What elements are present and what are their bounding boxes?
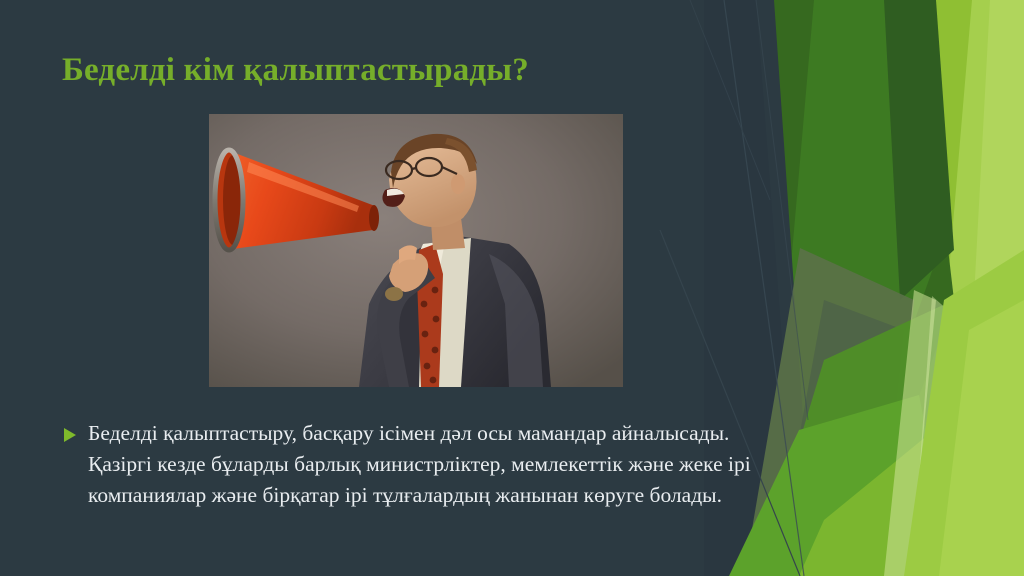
man-with-megaphone-photo	[209, 114, 623, 387]
deco-shape-right-low	[904, 250, 1024, 576]
bullet-paragraph-text: Беделді қалыптастыру, басқару ісімен дәл…	[88, 418, 752, 512]
deco-shape-olive	[744, 248, 914, 576]
deco-shape-right-low-2	[939, 300, 1024, 576]
triangle-right-icon	[62, 418, 88, 443]
deco-shape-bright-edge	[959, 0, 1024, 576]
deco-shape-darkgreen-2	[764, 0, 936, 576]
deco-shape-lowgreen-3	[799, 430, 954, 576]
hairline-upper-right	[690, 0, 770, 200]
photo-megaphone-tip	[369, 205, 379, 231]
presentation-slide: Беделді кім қалыптастырады?	[0, 0, 1024, 576]
deco-shape-pale-sliver	[884, 290, 936, 576]
deco-shape-bright-right	[899, 0, 1024, 576]
deco-shape-pale-sliver-2	[916, 296, 950, 520]
slide-title: Беделді кім қалыптастырады?	[62, 52, 762, 90]
deco-shape-lowgreen-2	[729, 395, 954, 576]
deco-shape-deepgreen	[884, 0, 954, 300]
bullet-paragraph: Беделді қалыптастыру, басқару ісімен дәл…	[88, 418, 752, 512]
deco-hairline-2	[756, 0, 808, 420]
photo-illustration	[209, 114, 623, 387]
photo-ear	[451, 174, 465, 194]
hairline-lower-right	[660, 230, 800, 576]
deco-shape-darkgreen	[744, 0, 954, 576]
photo-watch	[385, 287, 403, 301]
deco-shape-midbright	[824, 0, 972, 576]
deco-shape-lowgreen	[759, 300, 954, 576]
body-content-block: Беделді қалыптастыру, басқару ісімен дәл…	[62, 418, 752, 512]
deco-shape-olive-2	[774, 300, 904, 576]
